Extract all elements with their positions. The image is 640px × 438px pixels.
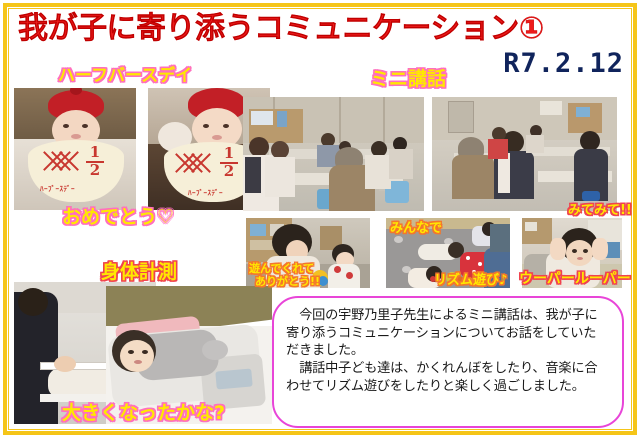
bib-numerator: 1 [220,146,238,161]
label-half-birthday: ハーフバースデイ [58,68,192,85]
bib-caption: ﾊｰﾌﾞｰｽﾃﾞｰ [188,188,223,198]
newsletter-page: 我が子に寄り添うコミュニケーション① R7.2.12 [0,0,640,438]
bib-numerator: 1 [86,145,104,160]
bib-denominator: 2 [220,164,238,179]
label-body-measurement: 身体計測 [101,263,177,282]
message-paragraph-1: 今回の宇野乃里子先生によるミニ講話は、我が子に寄り添うコミュニケーションについて… [286,307,608,360]
label-mini-lecture: ミニ講話 [370,70,446,89]
date-stamp: R7.2.12 [503,50,624,77]
label-grown-bigger: 大きくなったかな? [62,404,225,423]
label-axolotl: ウーパールーパー [519,272,631,286]
bib-denominator: 2 [86,163,104,178]
label-everyone: みんなで [390,222,442,235]
label-rhythm-play: リズム遊び♪ [434,274,507,287]
photo-mini-lecture-room-right [432,97,617,211]
label-look-at-me: みてみて!! [568,204,632,217]
page-title: 我が子に寄り添うコミュニケーション① [18,14,498,44]
photo-half-birthday-baby-left: 1 2 ﾊｰﾌﾞｰｽﾃﾞｰ [14,88,136,210]
label-played-with-me-line1: 遊んでくれて [249,263,314,274]
photo-mini-lecture-room-left [243,97,424,211]
message-paragraph-2: 講話中子ども達は、かくれんぼをしたり、音楽に合わせてリズム遊びをしたりと楽しく過… [286,360,608,395]
bib-caption: ﾊｰﾌﾞｰｽﾃﾞｰ [40,184,75,194]
label-congrats: おめでとう♡ [62,208,174,227]
label-played-with-me-line2: ありがとう!! [255,276,320,287]
message-balloon: 今回の宇野乃里子先生によるミニ講話は、我が子に寄り添うコミュニケーションについて… [272,296,624,428]
